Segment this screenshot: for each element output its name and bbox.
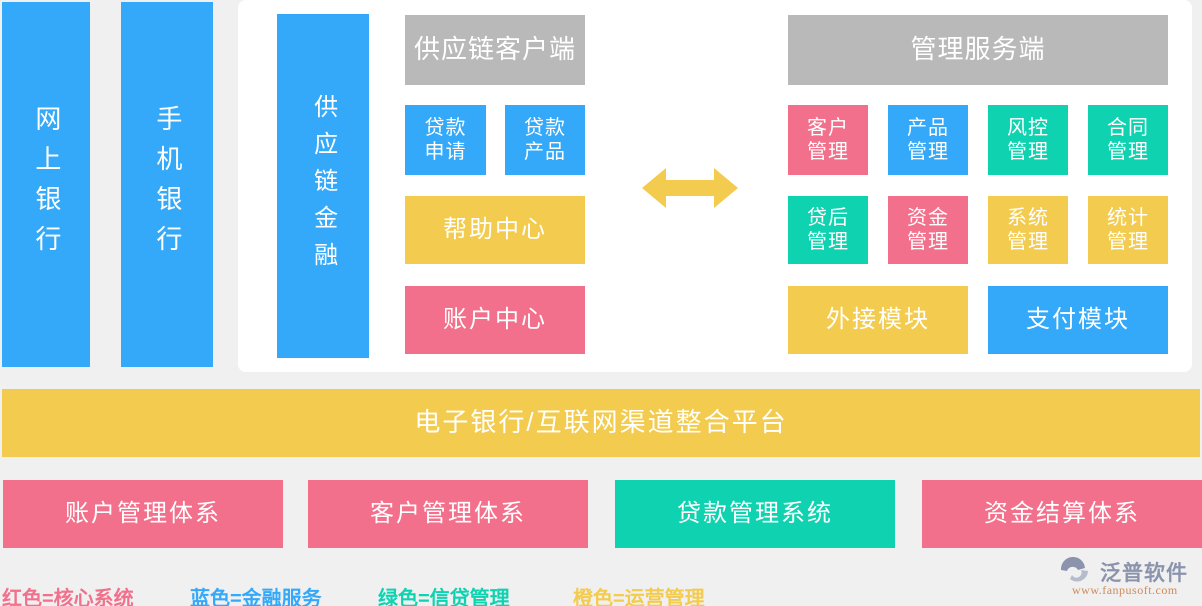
account-center-box[interactable]: 账户中心 xyxy=(405,286,585,354)
integration-platform-bar[interactable]: 电子银行/互联网渠道整合平台 xyxy=(2,389,1200,457)
legend-item-red: 红色=核心系统 xyxy=(2,582,134,606)
contract-management-box[interactable]: 合同 管理 xyxy=(1088,105,1168,175)
account-management-system-box[interactable]: 账户管理体系 xyxy=(3,480,283,548)
product-management-box[interactable]: 产品 管理 xyxy=(888,105,968,175)
loan-application-box[interactable]: 贷款 申请 xyxy=(405,105,486,175)
channel-column-online-bank[interactable]: 网上银行 xyxy=(2,2,90,367)
management-server-header[interactable]: 管理服务端 xyxy=(788,15,1168,85)
loan-product-box[interactable]: 贷款 产品 xyxy=(505,105,585,175)
logo-mark-icon xyxy=(1058,557,1098,583)
logo-url: www.fanpusoft.com xyxy=(1072,583,1178,598)
risk-control-management-box[interactable]: 风控 管理 xyxy=(988,105,1068,175)
legend-item-blue: 蓝色=金融服务 xyxy=(190,582,322,606)
diagram-canvas: 网上银行 手机银行 供应链金融 供应链客户端 贷款 申请 贷款 产品 帮助中心 … xyxy=(0,0,1202,606)
help-center-box[interactable]: 帮助中心 xyxy=(405,196,585,264)
bidirectional-arrow-icon xyxy=(640,160,740,216)
loan-management-system-box[interactable]: 贷款管理系统 xyxy=(615,480,895,548)
system-management-box[interactable]: 系统 管理 xyxy=(988,196,1068,264)
fund-settlement-system-box[interactable]: 资金结算体系 xyxy=(922,480,1202,548)
legend-item-green: 绿色=信贷管理 xyxy=(378,582,510,606)
post-loan-management-box[interactable]: 贷后 管理 xyxy=(788,196,868,264)
supply-chain-finance-rail[interactable]: 供应链金融 xyxy=(277,14,369,358)
statistics-management-box[interactable]: 统计 管理 xyxy=(1088,196,1168,264)
payment-module-box[interactable]: 支付模块 xyxy=(988,286,1168,354)
fanpu-software-logo: 泛普软件 www.fanpusoft.com xyxy=(1058,557,1198,603)
legend-item-orange: 橙色=运营管理 xyxy=(573,582,705,606)
fund-management-box[interactable]: 资金 管理 xyxy=(888,196,968,264)
customer-management-box[interactable]: 客户 管理 xyxy=(788,105,868,175)
channel-column-mobile-bank[interactable]: 手机银行 xyxy=(121,2,213,367)
external-module-box[interactable]: 外接模块 xyxy=(788,286,968,354)
customer-management-system-box[interactable]: 客户管理体系 xyxy=(308,480,588,548)
supply-chain-client-header[interactable]: 供应链客户端 xyxy=(405,15,585,85)
